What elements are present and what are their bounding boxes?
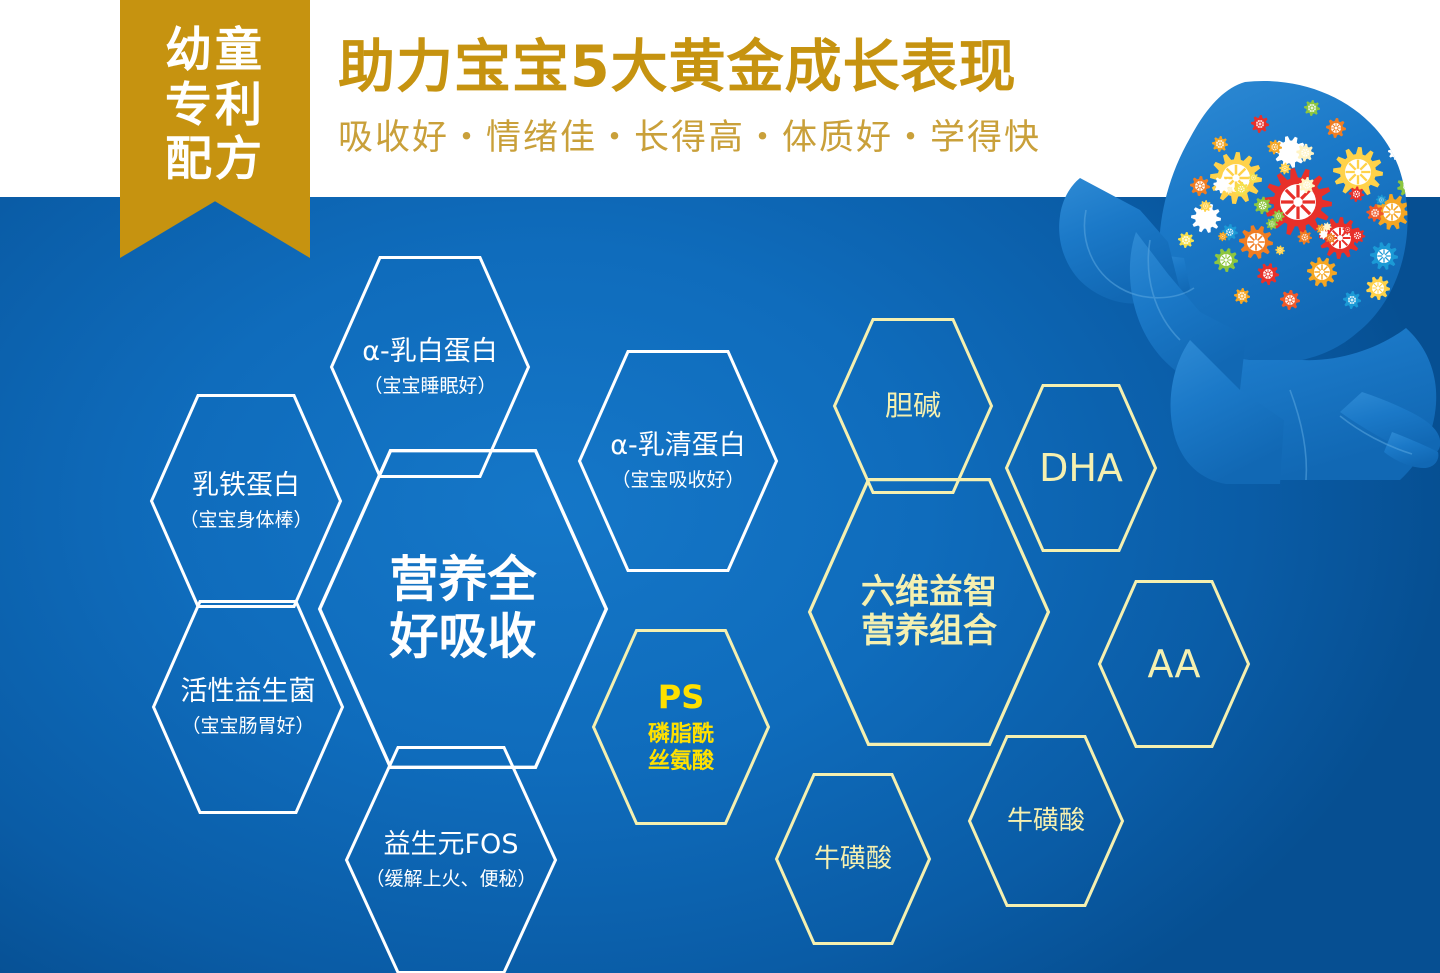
hexagon-taurine-left: 牛磺酸 bbox=[775, 773, 931, 945]
infographic-canvas: 幼童 专利 配方 助力宝宝5大黄金成长表现 吸收好・情绪佳・长得高・体质好・学得… bbox=[0, 0, 1440, 973]
hexagon-lactoferrin: 乳铁蛋白（宝宝身体棒） bbox=[150, 394, 342, 608]
ribbon-line-1: 幼童 bbox=[165, 24, 265, 79]
hexagon-prebiotic-fos: 益生元FOS（缓解上火、便秘） bbox=[345, 746, 557, 973]
hexagon-alpha-whey-protein: α-乳清蛋白（宝宝吸收好） bbox=[578, 350, 778, 572]
hexagon-center-nutrition: 营养全好吸收 bbox=[318, 449, 608, 769]
hexagon-choline: 胆碱 bbox=[833, 318, 993, 494]
hexagon-aa: AA bbox=[1098, 580, 1250, 748]
hexagon-alpha-lactalbumin: α-乳白蛋白（宝宝睡眠好） bbox=[330, 256, 530, 478]
page-subtitle: 吸收好・情绪佳・长得高・体质好・学得快 bbox=[338, 109, 1041, 160]
hexagon-dha: DHA bbox=[1005, 384, 1157, 552]
page-title: 助力宝宝5大黄金成长表现 bbox=[338, 34, 1041, 101]
header-text-block: 助力宝宝5大黄金成长表现 吸收好・情绪佳・长得高・体质好・学得快 bbox=[338, 34, 1041, 160]
hexagon-taurine-right: 牛磺酸 bbox=[968, 735, 1124, 907]
hexagon-active-probiotics: 活性益生菌（宝宝肠胃好） bbox=[152, 600, 344, 814]
hexagon-ps-phosphatidylserine: PS磷脂酰丝氨酸 bbox=[592, 629, 770, 825]
ribbon-line-2: 专利 bbox=[165, 79, 265, 134]
ribbon-line-3: 配方 bbox=[165, 133, 265, 188]
